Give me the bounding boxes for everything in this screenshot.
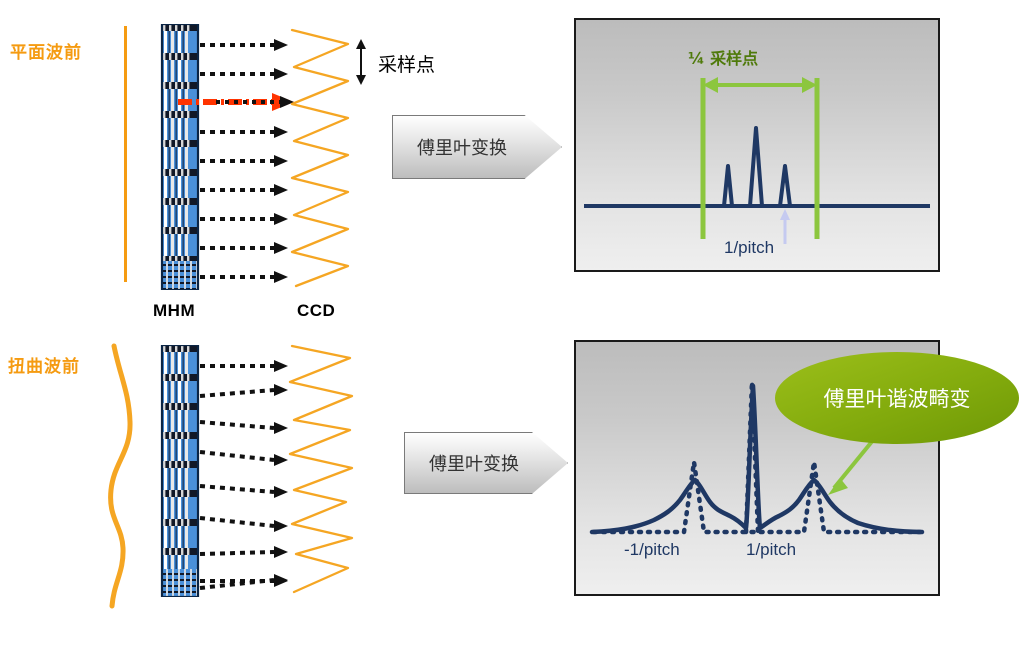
fourier-transform-banner-plane: 傅里叶变换 — [392, 115, 562, 179]
plane-wavefront-line — [124, 26, 127, 282]
fourier-transform-label-2: 傅里叶变换 — [405, 450, 519, 476]
fourier-transform-banner-distorted: 傅里叶变换 — [404, 432, 568, 494]
plane-wavefront-label: 平面波前 — [10, 38, 82, 63]
quarter-sampling-label: ¼ 采样点 — [688, 45, 758, 69]
plane-spectrum-panel: ¼ 采样点 1/pitch — [574, 18, 940, 272]
fourier-transform-label: 傅里叶变换 — [393, 134, 507, 160]
harmonic-distortion-label: 傅里叶谐波畸变 — [824, 383, 971, 413]
figure-canvas: 平面波前 — [0, 0, 1019, 659]
ccd-caption: CCD — [297, 301, 335, 321]
highlighted-ray — [176, 90, 298, 114]
pitch-label-top: 1/pitch — [724, 238, 774, 258]
pos-pitch-label: 1/pitch — [746, 540, 796, 560]
mhm-grating-plane — [160, 24, 200, 290]
ccd-signal-distorted — [286, 342, 362, 598]
distorted-wavefront-curve — [92, 340, 152, 610]
mhm-caption: MHM — [153, 301, 195, 321]
mhm-grating-distorted — [160, 345, 200, 597]
ray-arrows-plane — [198, 24, 298, 290]
distorted-wavefront-label: 扭曲波前 — [8, 352, 80, 377]
neg-pitch-label: -1/pitch — [624, 540, 680, 560]
sampling-interval-arrow — [350, 38, 372, 86]
ray-arrow-distorted-last — [198, 568, 300, 594]
sampling-point-label: 采样点 — [378, 50, 435, 77]
harmonic-distortion-callout: 傅里叶谐波畸变 — [775, 352, 1019, 444]
ray-arrows-distorted — [198, 340, 300, 602]
ccd-signal-plane — [286, 24, 358, 290]
